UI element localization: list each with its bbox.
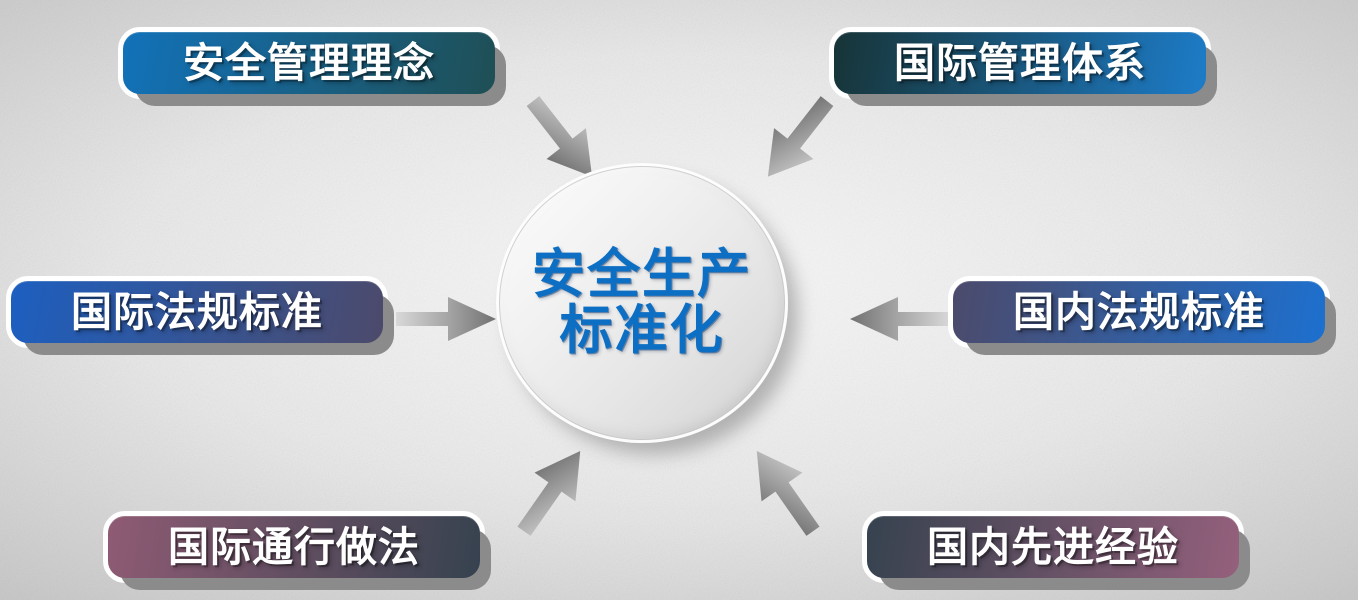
node-international-common-practice[interactable]: 国际通行做法 [103, 511, 485, 583]
center-node-text: 安全生产 标准化 [532, 247, 752, 359]
node-label: 国际法规标准 [71, 292, 323, 333]
node-body: 国内法规标准 [953, 281, 1325, 343]
arrow-middle-left-icon [396, 295, 501, 343]
node-body: 国际法规标准 [11, 281, 383, 343]
node-body: 国际通行做法 [108, 516, 480, 578]
center-node-circle: 安全生产 标准化 [496, 163, 788, 443]
node-body: 国内先进经验 [867, 516, 1239, 578]
node-label: 国际管理体系 [894, 43, 1146, 84]
center-line-2: 标准化 [532, 303, 752, 359]
node-body: 国际管理体系 [834, 32, 1206, 94]
node-label: 国际通行做法 [168, 527, 420, 568]
arrow-middle-right-icon [845, 295, 950, 343]
node-international-management-system[interactable]: 国际管理体系 [829, 27, 1211, 99]
node-body: 安全管理理念 [123, 32, 495, 94]
node-label: 国内先进经验 [927, 527, 1179, 568]
node-international-laws-standards[interactable]: 国际法规标准 [6, 276, 388, 348]
node-label: 安全管理理念 [183, 43, 435, 84]
node-domestic-laws-standards[interactable]: 国内法规标准 [948, 276, 1330, 348]
center-node[interactable]: 安全生产 标准化 [496, 163, 814, 461]
node-domestic-advanced-experience[interactable]: 国内先进经验 [862, 511, 1244, 583]
node-label: 国内法规标准 [1013, 292, 1265, 333]
center-line-1: 安全生产 [532, 247, 752, 303]
node-safety-management-concept[interactable]: 安全管理理念 [118, 27, 500, 99]
diagram-canvas: 安全管理理念 国际管理体系 国际法规标准 国内法规标准 国际通行做法 国内先进经… [0, 0, 1358, 600]
